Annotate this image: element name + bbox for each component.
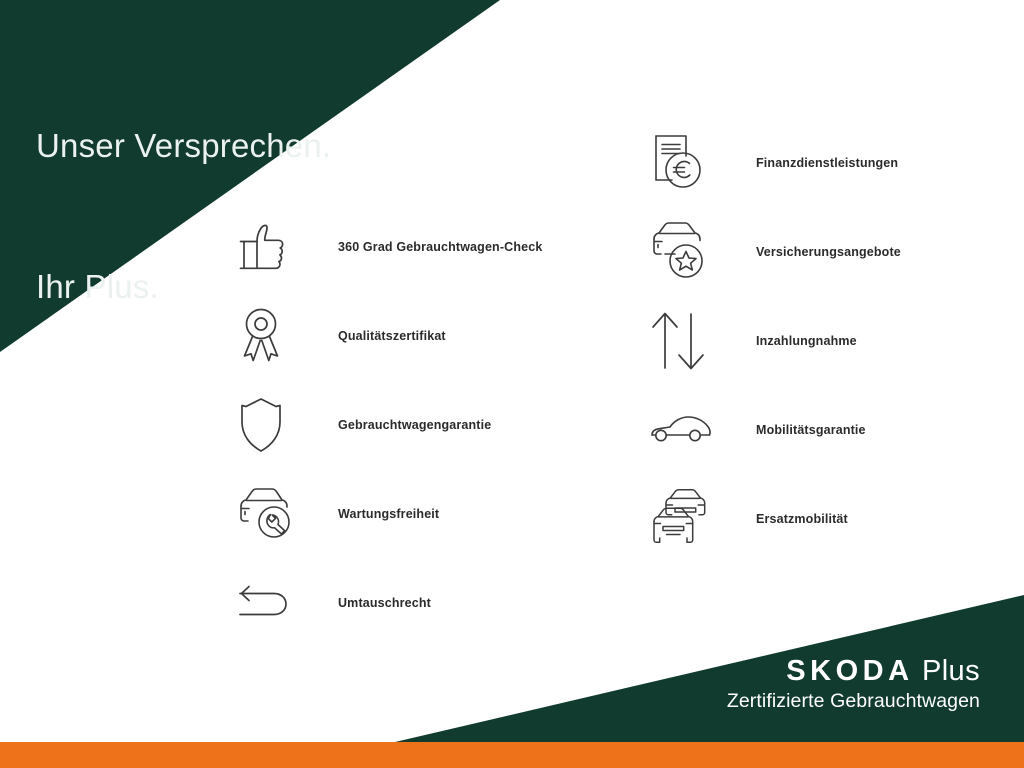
- up-down-arrows-icon: [650, 308, 722, 374]
- feature-label: Ersatzmobilität: [756, 512, 848, 526]
- feature-item-insurance-offers: Versicherungsangebote: [650, 207, 901, 296]
- feature-label: Umtauschrecht: [338, 596, 431, 610]
- feature-label: Finanzdienstleistungen: [756, 156, 898, 170]
- feature-list-left: 360 Grad Gebrauchtwagen-Check Qualitätsz…: [236, 202, 542, 647]
- feature-item-financial-services: Finanzdienstleistungen: [650, 118, 901, 207]
- feature-item-360-check: 360 Grad Gebrauchtwagen-Check: [236, 202, 542, 291]
- feature-label: Wartungsfreiheit: [338, 507, 439, 521]
- feature-item-quality-certificate: Qualitätszertifikat: [236, 291, 542, 380]
- car-star-icon: [650, 219, 722, 285]
- feature-item-replacement-mobility: Ersatzmobilität: [650, 474, 901, 563]
- feature-item-trade-in: Inzahlungnahme: [650, 296, 901, 385]
- document-euro-icon: [650, 130, 722, 196]
- return-arrow-icon: [236, 570, 308, 636]
- brand-lockup: SKODA Plus Zertifizierte Gebrauchtwagen: [727, 655, 980, 713]
- feature-label: Mobilitätsgarantie: [756, 423, 866, 437]
- brand-suffix: Plus: [914, 655, 980, 687]
- feature-label: Inzahlungnahme: [756, 334, 857, 348]
- brand-subtitle: Zertifizierte Gebrauchtwagen: [727, 689, 980, 713]
- feature-label: Qualitätszertifikat: [338, 329, 446, 343]
- page-title-line-1: Unser Versprechen.: [36, 122, 331, 169]
- feature-item-maintenance-free: Wartungsfreiheit: [236, 469, 542, 558]
- feature-list-right: Finanzdienstleistungen Versicherungsange…: [650, 118, 901, 563]
- feature-label: Versicherungsangebote: [756, 245, 901, 259]
- car-side-icon: [650, 397, 722, 463]
- brand-wordmark: SKODA: [786, 655, 913, 687]
- promo-banner: Unser Versprechen. Ihr Plus. 360 Grad Ge…: [0, 0, 1024, 768]
- award-rosette-icon: [236, 303, 308, 369]
- brand-name: SKODA Plus: [727, 655, 980, 687]
- feature-item-mobility-guarantee: Mobilitätsgarantie: [650, 385, 901, 474]
- orange-footer-bar: [0, 742, 1024, 768]
- two-cars-icon: [650, 486, 722, 552]
- feature-item-warranty: Gebrauchtwagengarantie: [236, 380, 542, 469]
- shield-icon: [236, 392, 308, 458]
- feature-item-exchange-right: Umtauschrecht: [236, 558, 542, 647]
- car-wrench-icon: [236, 481, 308, 547]
- thumbs-up-icon: [236, 214, 308, 280]
- feature-label: 360 Grad Gebrauchtwagen-Check: [338, 240, 542, 254]
- feature-label: Gebrauchtwagengarantie: [338, 418, 491, 432]
